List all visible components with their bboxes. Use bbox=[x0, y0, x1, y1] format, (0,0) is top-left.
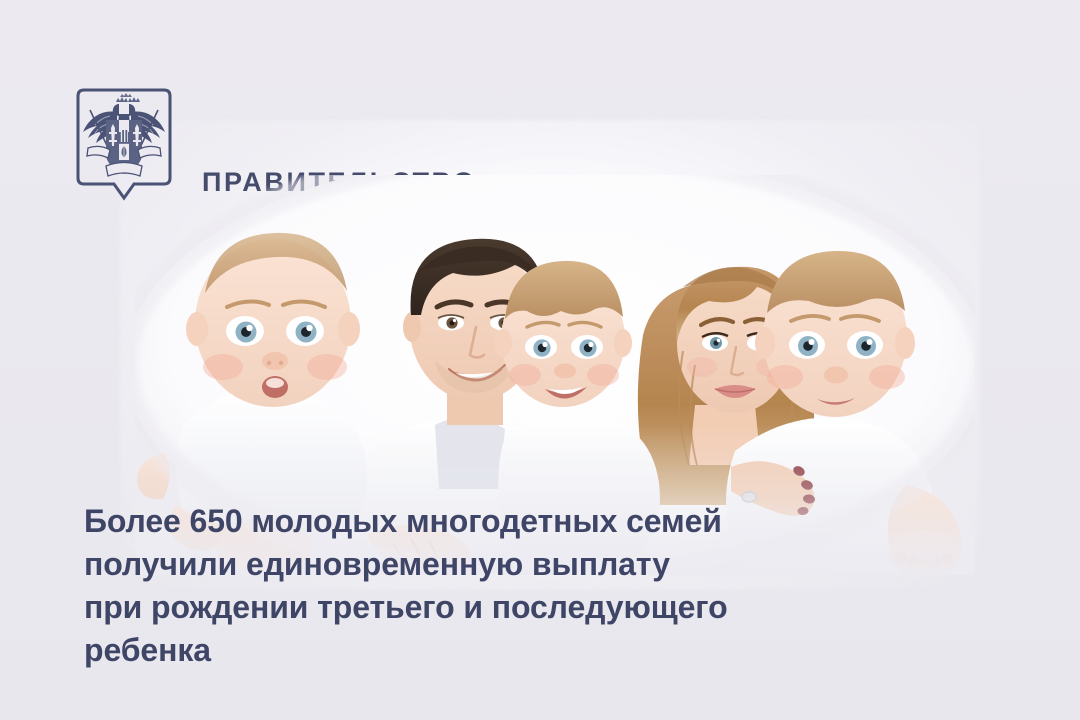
headline-text: Более 650 молодых многодетных семей полу… bbox=[84, 500, 984, 672]
headline-line-3: при рождении третьего и последующего bbox=[84, 586, 984, 629]
announcement-poster: ПРАВИТЕЛЬСТВО РОСТОВСКОЙ ОБЛАСТИ bbox=[0, 0, 1080, 720]
headline-line-2: получили единовременную выплату bbox=[84, 543, 984, 586]
headline-line-4: ребенка bbox=[84, 629, 984, 672]
headline-line-1: Более 650 молодых многодетных семей bbox=[84, 500, 984, 543]
